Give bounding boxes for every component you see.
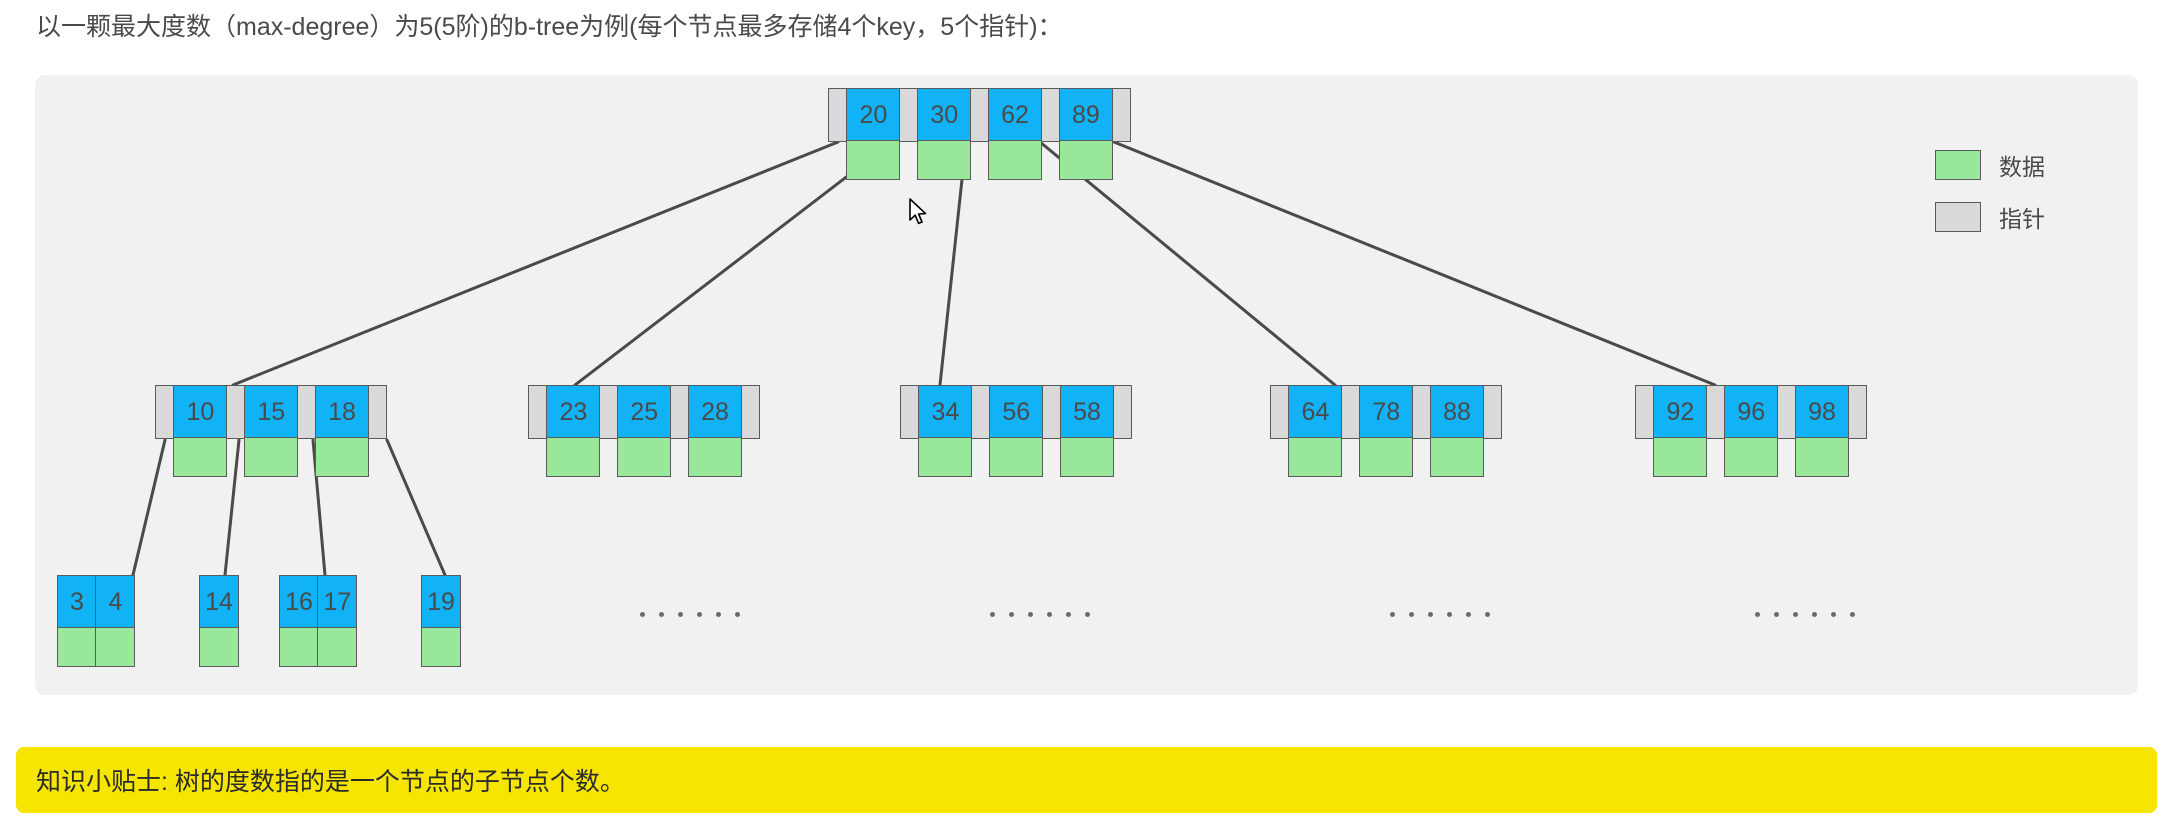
- ellipsis-dot: [1485, 612, 1490, 617]
- data-cell: [989, 437, 1043, 477]
- pointer-cell: [367, 385, 387, 439]
- ellipsis-dot: [990, 612, 995, 617]
- tree-node-root[interactable]: 20 30 62 89: [828, 88, 1130, 180]
- data-cell: [1359, 437, 1413, 477]
- edge-root-to-n5: [1114, 142, 1715, 385]
- key-cell[interactable]: 64: [1288, 385, 1342, 439]
- data-cell: [315, 437, 369, 477]
- ellipsis-dot: [1850, 612, 1855, 617]
- key-cell[interactable]: 78: [1359, 385, 1413, 439]
- legend-label-pointer: 指针: [1999, 200, 2045, 234]
- pointer-cell: [1040, 88, 1060, 142]
- data-cell: [546, 437, 600, 477]
- pointer-cell: [1111, 88, 1131, 142]
- ellipsis-dot: [697, 612, 702, 617]
- key-slot: 64: [1288, 385, 1340, 477]
- key-slot: 23: [546, 385, 598, 477]
- data-cell: [57, 627, 97, 667]
- pointer-cell: [528, 385, 548, 439]
- key-cell[interactable]: 98: [1795, 385, 1849, 439]
- ellipsis-dot: [1812, 612, 1817, 617]
- tree-node-n5[interactable]: 92 96 98: [1635, 385, 1866, 477]
- edge-root-to-n1: [233, 142, 838, 385]
- key-cell[interactable]: 56: [989, 385, 1043, 439]
- pointer-cell: [1847, 385, 1867, 439]
- key-cell[interactable]: 88: [1430, 385, 1484, 439]
- data-cell: [988, 140, 1042, 180]
- ellipsis-dot: [1047, 612, 1052, 617]
- pointer-cell: [971, 385, 991, 439]
- key-slot: 17: [317, 575, 355, 667]
- key-cell[interactable]: 34: [918, 385, 972, 439]
- ellipsis-group-3: [1390, 612, 1490, 617]
- data-cell: [173, 437, 227, 477]
- pointer-cell: [1635, 385, 1655, 439]
- key-slot: 4: [95, 575, 133, 667]
- data-cell: [1430, 437, 1484, 477]
- page-caption: 以一颗最大度数（max-degree）为5(5阶)的b-tree为例(每个节点最…: [36, 8, 2126, 46]
- tree-node-n1[interactable]: 10 15 18: [155, 385, 386, 477]
- legend-label-data: 数据: [1999, 148, 2045, 182]
- key-cell[interactable]: 4: [95, 575, 135, 629]
- ellipsis-dot: [1085, 612, 1090, 617]
- data-cell: [244, 437, 298, 477]
- data-cell: [617, 437, 671, 477]
- tree-node-n4[interactable]: 64 78 88: [1270, 385, 1501, 477]
- pointer-cell: [1412, 385, 1432, 439]
- tree-node-n3[interactable]: 34 56 58: [900, 385, 1131, 477]
- pointer-cell: [1341, 385, 1361, 439]
- ellipsis-dot: [1774, 612, 1779, 617]
- pointer-cell: [1270, 385, 1290, 439]
- ellipsis-group-4: [1755, 612, 1855, 617]
- pointer-cell: [740, 385, 760, 439]
- pointer-cell: [226, 385, 246, 439]
- ellipsis-dot: [1390, 612, 1395, 617]
- tree-node-l1[interactable]: 3 4: [57, 575, 134, 667]
- ellipsis-dot: [1831, 612, 1836, 617]
- key-slot: 10: [173, 385, 225, 477]
- ellipsis-dot: [1755, 612, 1760, 617]
- key-slot: 92: [1653, 385, 1705, 477]
- key-slot: 78: [1359, 385, 1411, 477]
- ellipsis-dot: [1428, 612, 1433, 617]
- data-cell: [1724, 437, 1778, 477]
- ellipsis-dot: [1793, 612, 1798, 617]
- ellipsis-dot: [1466, 612, 1471, 617]
- pointer-cell: [670, 385, 690, 439]
- key-cell[interactable]: 92: [1653, 385, 1707, 439]
- key-slot: 15: [244, 385, 296, 477]
- key-cell[interactable]: 89: [1059, 88, 1113, 142]
- key-slot: 96: [1724, 385, 1776, 477]
- ellipsis-dot: [1028, 612, 1033, 617]
- key-cell[interactable]: 15: [244, 385, 298, 439]
- key-slot: 25: [617, 385, 669, 477]
- key-cell[interactable]: 20: [846, 88, 900, 142]
- pointer-cell: [599, 385, 619, 439]
- key-cell[interactable]: 62: [988, 88, 1042, 142]
- data-cell: [421, 627, 461, 667]
- key-slot: 88: [1430, 385, 1482, 477]
- pointer-cell: [970, 88, 990, 142]
- ellipsis-dot: [678, 612, 683, 617]
- pointer-cell: [899, 88, 919, 142]
- data-cell: [317, 627, 357, 667]
- key-cell[interactable]: 17: [317, 575, 357, 629]
- ellipsis-dot: [1447, 612, 1452, 617]
- key-slot: 89: [1059, 88, 1111, 180]
- key-slot: 20: [846, 88, 898, 180]
- key-cell[interactable]: 96: [1724, 385, 1778, 439]
- pointer-cell: [1482, 385, 1502, 439]
- key-slot: 62: [988, 88, 1040, 180]
- data-cell: [1795, 437, 1849, 477]
- tip-bar: 知识小贴士: 树的度数指的是一个节点的子节点个数。: [16, 747, 2157, 813]
- key-slot: 58: [1060, 385, 1112, 477]
- data-cell: [1059, 140, 1113, 180]
- tree-node-l2[interactable]: 14: [199, 575, 237, 667]
- key-slot: 98: [1795, 385, 1847, 477]
- key-slot: 16: [279, 575, 317, 667]
- key-slot: 19: [421, 575, 459, 667]
- ellipsis-dot: [1409, 612, 1414, 617]
- legend-item-data: 数据: [1935, 148, 2045, 182]
- ellipsis-dot: [1066, 612, 1071, 617]
- pointer-cell: [828, 88, 848, 142]
- data-cell: [917, 140, 971, 180]
- key-cell[interactable]: 23: [546, 385, 600, 439]
- key-cell[interactable]: 10: [173, 385, 227, 439]
- key-cell[interactable]: 25: [617, 385, 671, 439]
- diagram-panel: 20 30 62 89 10: [35, 75, 2138, 695]
- data-cell: [1653, 437, 1707, 477]
- ellipsis-dot: [659, 612, 664, 617]
- legend-swatch-data: [1935, 150, 1981, 180]
- tree-node-n2[interactable]: 23 25 28: [528, 385, 759, 477]
- ellipsis-group-2: [990, 612, 1090, 617]
- data-cell: [1288, 437, 1342, 477]
- key-cell[interactable]: 58: [1060, 385, 1114, 439]
- pointer-cell: [297, 385, 317, 439]
- key-cell[interactable]: 30: [917, 88, 971, 142]
- pointer-cell: [1706, 385, 1726, 439]
- key-cell[interactable]: 18: [315, 385, 369, 439]
- ellipsis-dot: [640, 612, 645, 617]
- tree-node-l4[interactable]: 19: [421, 575, 459, 667]
- key-cell[interactable]: 16: [279, 575, 319, 629]
- pointer-cell: [900, 385, 920, 439]
- key-cell[interactable]: 14: [199, 575, 239, 629]
- btree-diagram-page: 以一颗最大度数（max-degree）为5(5阶)的b-tree为例(每个节点最…: [0, 0, 2173, 829]
- tip-text: 知识小贴士: 树的度数指的是一个节点的子节点个数。: [36, 762, 625, 798]
- data-cell: [846, 140, 900, 180]
- key-slot: 34: [918, 385, 970, 477]
- key-slot: 30: [917, 88, 969, 180]
- ellipsis-dot: [735, 612, 740, 617]
- key-slot: 18: [315, 385, 367, 477]
- tree-node-l3[interactable]: 16 17: [279, 575, 356, 667]
- key-slot: 56: [989, 385, 1041, 477]
- legend: 数据 指针: [1935, 148, 2045, 252]
- edge-n1-to-l4: [387, 440, 445, 575]
- pointer-cell: [1777, 385, 1797, 439]
- key-cell[interactable]: 19: [421, 575, 461, 629]
- key-slot: 3: [57, 575, 95, 667]
- data-cell: [95, 627, 135, 667]
- key-cell[interactable]: 3: [57, 575, 97, 629]
- ellipsis-group-1: [640, 612, 740, 617]
- data-cell: [1060, 437, 1114, 477]
- data-cell: [279, 627, 319, 667]
- pointer-cell: [155, 385, 175, 439]
- data-cell: [199, 627, 239, 667]
- pointer-cell: [1042, 385, 1062, 439]
- ellipsis-dot: [716, 612, 721, 617]
- legend-item-pointer: 指针: [1935, 200, 2045, 234]
- key-slot: 14: [199, 575, 237, 667]
- ellipsis-dot: [1009, 612, 1014, 617]
- data-cell: [688, 437, 742, 477]
- key-slot: 28: [688, 385, 740, 477]
- data-cell: [918, 437, 972, 477]
- key-cell[interactable]: 28: [688, 385, 742, 439]
- pointer-cell: [1112, 385, 1132, 439]
- legend-swatch-pointer: [1935, 202, 1981, 232]
